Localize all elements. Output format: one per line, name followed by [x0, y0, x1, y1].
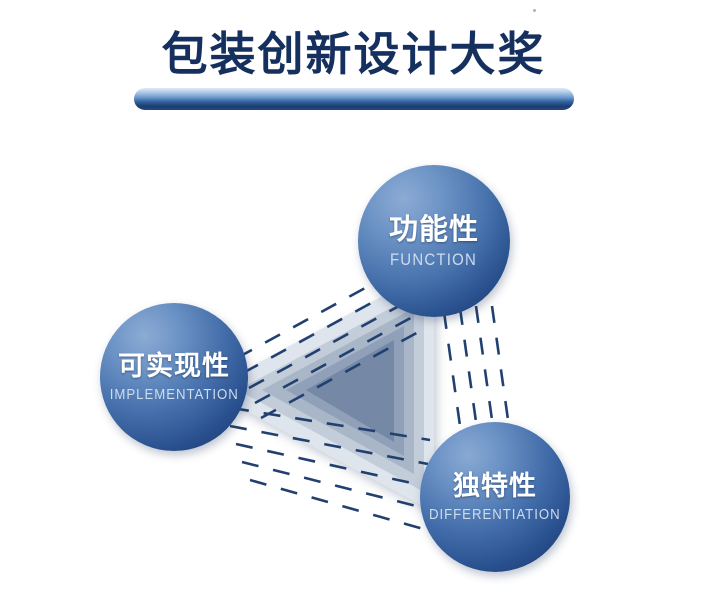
title-text-layer: 包装创新设计大奖	[0, 30, 707, 78]
node-implementation[interactable]: 可实现性 IMPLEMENTATION	[100, 303, 248, 451]
node-differentiation-label-en: DIFFERENTIATION	[429, 507, 561, 522]
page-title: 包装创新设计大奖	[0, 30, 707, 78]
node-function-label-cn: 功能性	[389, 215, 479, 244]
infographic-canvas: 包装创新设计大奖	[0, 0, 707, 615]
node-implementation-label-en: IMPLEMENTATION	[110, 387, 239, 402]
node-differentiation[interactable]: 独特性 DIFFERENTIATION	[420, 422, 570, 572]
node-function[interactable]: 功能性 FUNCTION	[358, 165, 510, 317]
title-block: 包装创新设计大奖	[0, 30, 707, 78]
triangle-diagram: 功能性 FUNCTION 可实现性 IMPLEMENTATION 独特性 DIF…	[0, 140, 707, 615]
node-function-label-en: FUNCTION	[390, 251, 477, 268]
node-differentiation-label-cn: 独特性	[453, 473, 537, 500]
speck-artifact	[533, 9, 536, 12]
node-implementation-label-cn: 可实现性	[118, 353, 230, 380]
title-underbar	[134, 88, 574, 110]
connector-band-right	[444, 306, 510, 440]
